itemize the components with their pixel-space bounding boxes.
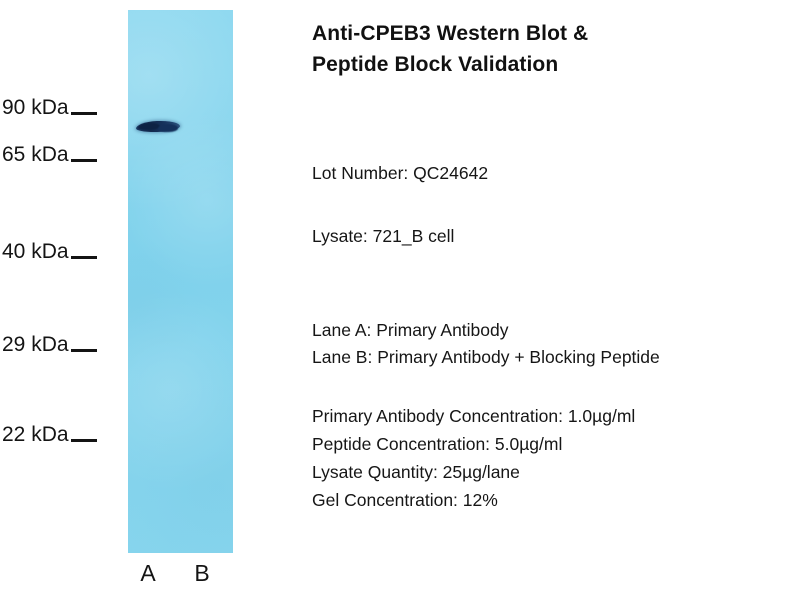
molecular-weight-marker-column: 90 kDa 65 kDa 40 kDa 29 kDa 22 kDa	[0, 0, 128, 600]
marker-40-kda: 40 kDa	[0, 240, 124, 264]
marker-tick-icon	[71, 439, 97, 442]
figure-title-line-1: Anti-CPEB3 Western Blot &	[312, 22, 588, 45]
marker-90-kda: 90 kDa	[0, 96, 124, 120]
marker-tick-icon	[71, 112, 97, 115]
protein-band-lane-a-tail	[158, 124, 178, 132]
gel-concentration-text: Gel Concentration: 12%	[312, 488, 498, 512]
figure-info-panel: Anti-CPEB3 Western Blot & Peptide Block …	[312, 0, 800, 600]
marker-tick-icon	[71, 256, 97, 259]
blot-membrane-image	[128, 10, 233, 553]
marker-label: 22 kDa	[0, 423, 69, 447]
marker-label: 29 kDa	[0, 333, 69, 357]
blot-lane-b	[180, 10, 233, 553]
lane-label-a: A	[136, 560, 160, 587]
marker-65-kda: 65 kDa	[0, 143, 124, 167]
lane-label-row: A B	[128, 560, 233, 594]
figure-title-line-2: Peptide Block Validation	[312, 53, 558, 76]
peptide-concentration-text: Peptide Concentration: 5.0µg/ml	[312, 432, 562, 456]
lane-b-legend-text: Lane B: Primary Antibody + Blocking Pept…	[312, 345, 660, 369]
primary-antibody-concentration-text: Primary Antibody Concentration: 1.0µg/ml	[312, 404, 635, 428]
marker-tick-icon	[71, 349, 97, 352]
lysate-quantity-text: Lysate Quantity: 25µg/lane	[312, 460, 520, 484]
marker-29-kda: 29 kDa	[0, 333, 124, 357]
marker-label: 40 kDa	[0, 240, 69, 264]
marker-label: 65 kDa	[0, 143, 69, 167]
lot-number-text: Lot Number: QC24642	[312, 161, 488, 185]
marker-label: 90 kDa	[0, 96, 69, 120]
figure-title: Anti-CPEB3 Western Blot & Peptide Block …	[312, 18, 732, 80]
lysate-text: Lysate: 721_B cell	[312, 224, 454, 248]
lane-a-legend-text: Lane A: Primary Antibody	[312, 318, 509, 342]
marker-22-kda: 22 kDa	[0, 423, 124, 447]
lane-label-b: B	[190, 560, 214, 587]
blot-lane-a	[128, 10, 180, 553]
marker-tick-icon	[71, 159, 97, 162]
